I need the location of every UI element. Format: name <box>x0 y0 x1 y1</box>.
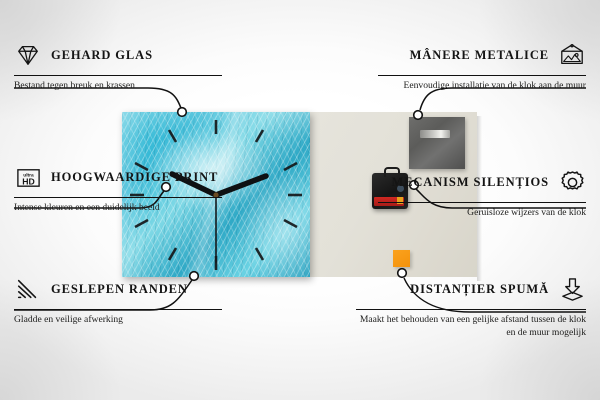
feature-hoogwaardige-print-desc: Intense kleuren en een duidelijk beeld <box>14 202 222 215</box>
feature-manere-metalice-title: MÂNERE METALICE <box>410 48 549 63</box>
feature-manere-metalice: MÂNERE METALICE Eenvoudige installatie v… <box>378 38 586 93</box>
diagonal-lines-icon <box>14 275 42 303</box>
ultra-hd-icon: ultra HD <box>14 163 42 191</box>
feature-distantier-spuma-desc: Maakt het behouden van een gelijke afsta… <box>356 314 586 340</box>
feature-geslepen-randen-title: GESLEPEN RANDEN <box>51 282 188 297</box>
feature-manere-metalice-desc: Eenvoudige installatie van de klok aan d… <box>378 80 586 93</box>
feature-geslepen-randen-rule <box>14 309 222 310</box>
feature-hoogwaardige-print: ultra HD HOOGWAARDIGE PRINT Intense kleu… <box>14 160 222 215</box>
foam-spacer-pad <box>393 250 410 267</box>
feature-mecanism-silentios: MECANISM SILENȚIOS Geruisloze wijzers va… <box>378 165 586 220</box>
feature-hoogwaardige-print-rule <box>14 197 222 198</box>
arrow-down-layers-icon <box>558 275 586 303</box>
feature-gehard-glas: GEHARD GLAS Bestand tegen breuk en krass… <box>14 38 222 93</box>
hanger-slot <box>420 130 450 138</box>
clock-hour-hand <box>216 176 266 195</box>
feature-hoogwaardige-print-head: ultra HD HOOGWAARDIGE PRINT <box>14 160 222 194</box>
metal-hanger-plate <box>409 117 465 169</box>
feature-gehard-glas-desc: Bestand tegen breuk en krassen <box>14 80 222 93</box>
feature-mecanism-silentios-title: MECANISM SILENȚIOS <box>391 175 549 190</box>
product-infographic: GEHARD GLAS Bestand tegen breuk en krass… <box>0 0 600 400</box>
feature-distantier-spuma-head: DISTANȚIER SPUMĂ <box>356 272 586 306</box>
feature-geslepen-randen-desc: Gladde en veilige afwerking <box>14 314 222 327</box>
feature-mecanism-silentios-head: MECANISM SILENȚIOS <box>378 165 586 199</box>
picture-frame-icon <box>558 41 586 69</box>
feature-manere-metalice-rule <box>378 75 586 76</box>
feature-mecanism-silentios-desc: Geruisloze wijzers van de klok <box>378 207 586 220</box>
feature-distantier-spuma-title: DISTANȚIER SPUMĂ <box>410 282 549 297</box>
gear-icon <box>558 168 586 196</box>
feature-manere-metalice-head: MÂNERE METALICE <box>378 38 586 72</box>
feature-gehard-glas-title: GEHARD GLAS <box>51 48 153 63</box>
feature-hoogwaardige-print-title: HOOGWAARDIGE PRINT <box>51 170 218 185</box>
feature-geslepen-randen: GESLEPEN RANDEN Gladde en veilige afwerk… <box>14 272 222 327</box>
feature-gehard-glas-head: GEHARD GLAS <box>14 38 222 72</box>
feature-gehard-glas-rule <box>14 75 222 76</box>
feature-mecanism-silentios-rule <box>378 202 586 203</box>
feature-distantier-spuma-rule <box>356 309 586 310</box>
diamond-icon <box>14 41 42 69</box>
ultra-hd-icon-large-text: HD <box>22 176 35 186</box>
feature-distantier-spuma: DISTANȚIER SPUMĂ Maakt het behouden van … <box>356 272 586 340</box>
feature-geslepen-randen-head: GESLEPEN RANDEN <box>14 272 222 306</box>
